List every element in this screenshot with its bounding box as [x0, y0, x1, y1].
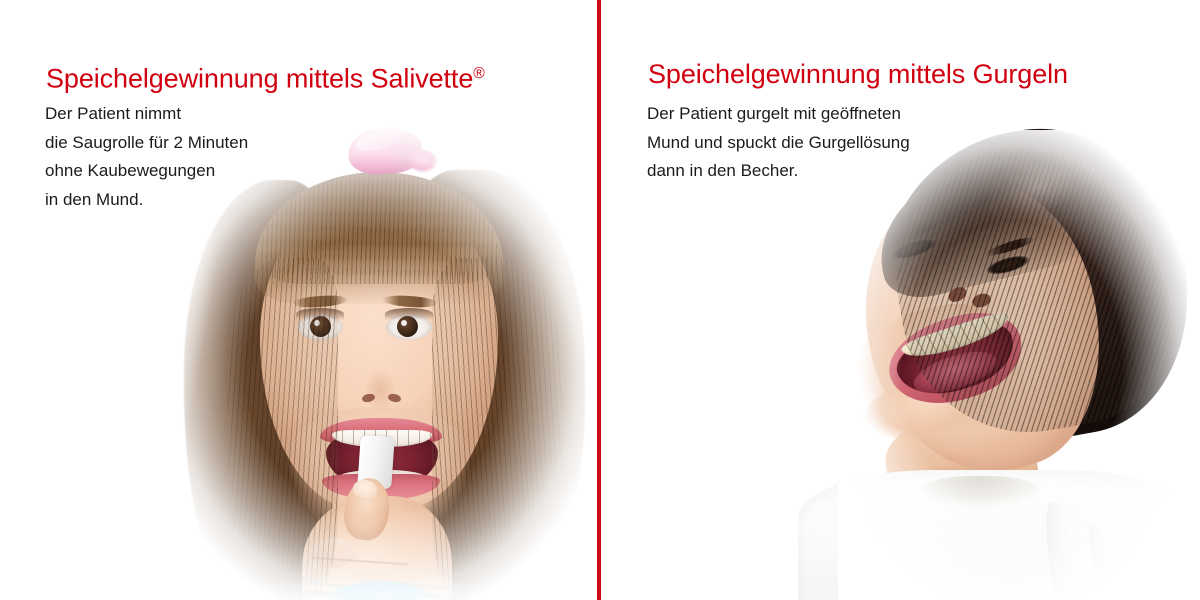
girl-eyelid-right: [385, 308, 433, 320]
panel-heading-text: Speichelgewinnung mittels Salivette: [46, 64, 473, 94]
girl-hair-strands-left: [228, 258, 338, 598]
photo-boy-gargling: [838, 130, 1200, 600]
panel-body-salivette: Der Patient nimmt die Saugrolle für 2 Mi…: [45, 100, 248, 214]
panel-gurgeln: Speichelgewinnung mittels Gurgeln Der Pa…: [602, 0, 1200, 600]
body-line: in den Mund.: [45, 186, 248, 215]
girl-eye-highlight-right: [401, 320, 407, 326]
panel-divider: [597, 0, 601, 600]
girl-hair-strands-right: [432, 258, 562, 600]
instruction-figure: Speichelgewinnung mittels Salivette® Der…: [0, 0, 1200, 600]
body-line: Mund und spuckt die Gurgellösung: [647, 129, 910, 158]
body-line: die Saugrolle für 2 Minuten: [45, 129, 248, 158]
body-line: Der Patient nimmt: [45, 100, 248, 129]
panel-heading-salivette: Speichelgewinnung mittels Salivette®: [46, 58, 485, 95]
boy-shirt-collar: [912, 476, 1048, 528]
body-line: ohne Kaubewegungen: [45, 157, 248, 186]
body-line: dann in den Becher.: [647, 157, 910, 186]
panel-body-gurgeln: Der Patient gurgelt mit geöffneten Mund …: [647, 100, 910, 186]
panel-heading-text: Speichelgewinnung mittels Gurgeln: [648, 59, 1068, 89]
panel-heading-gurgeln: Speichelgewinnung mittels Gurgeln: [648, 58, 1068, 90]
registered-trademark-symbol: ®: [473, 65, 485, 82]
body-line: Der Patient gurgelt mit geöffneten: [647, 100, 910, 129]
panel-salivette: Speichelgewinnung mittels Salivette® Der…: [0, 0, 598, 600]
